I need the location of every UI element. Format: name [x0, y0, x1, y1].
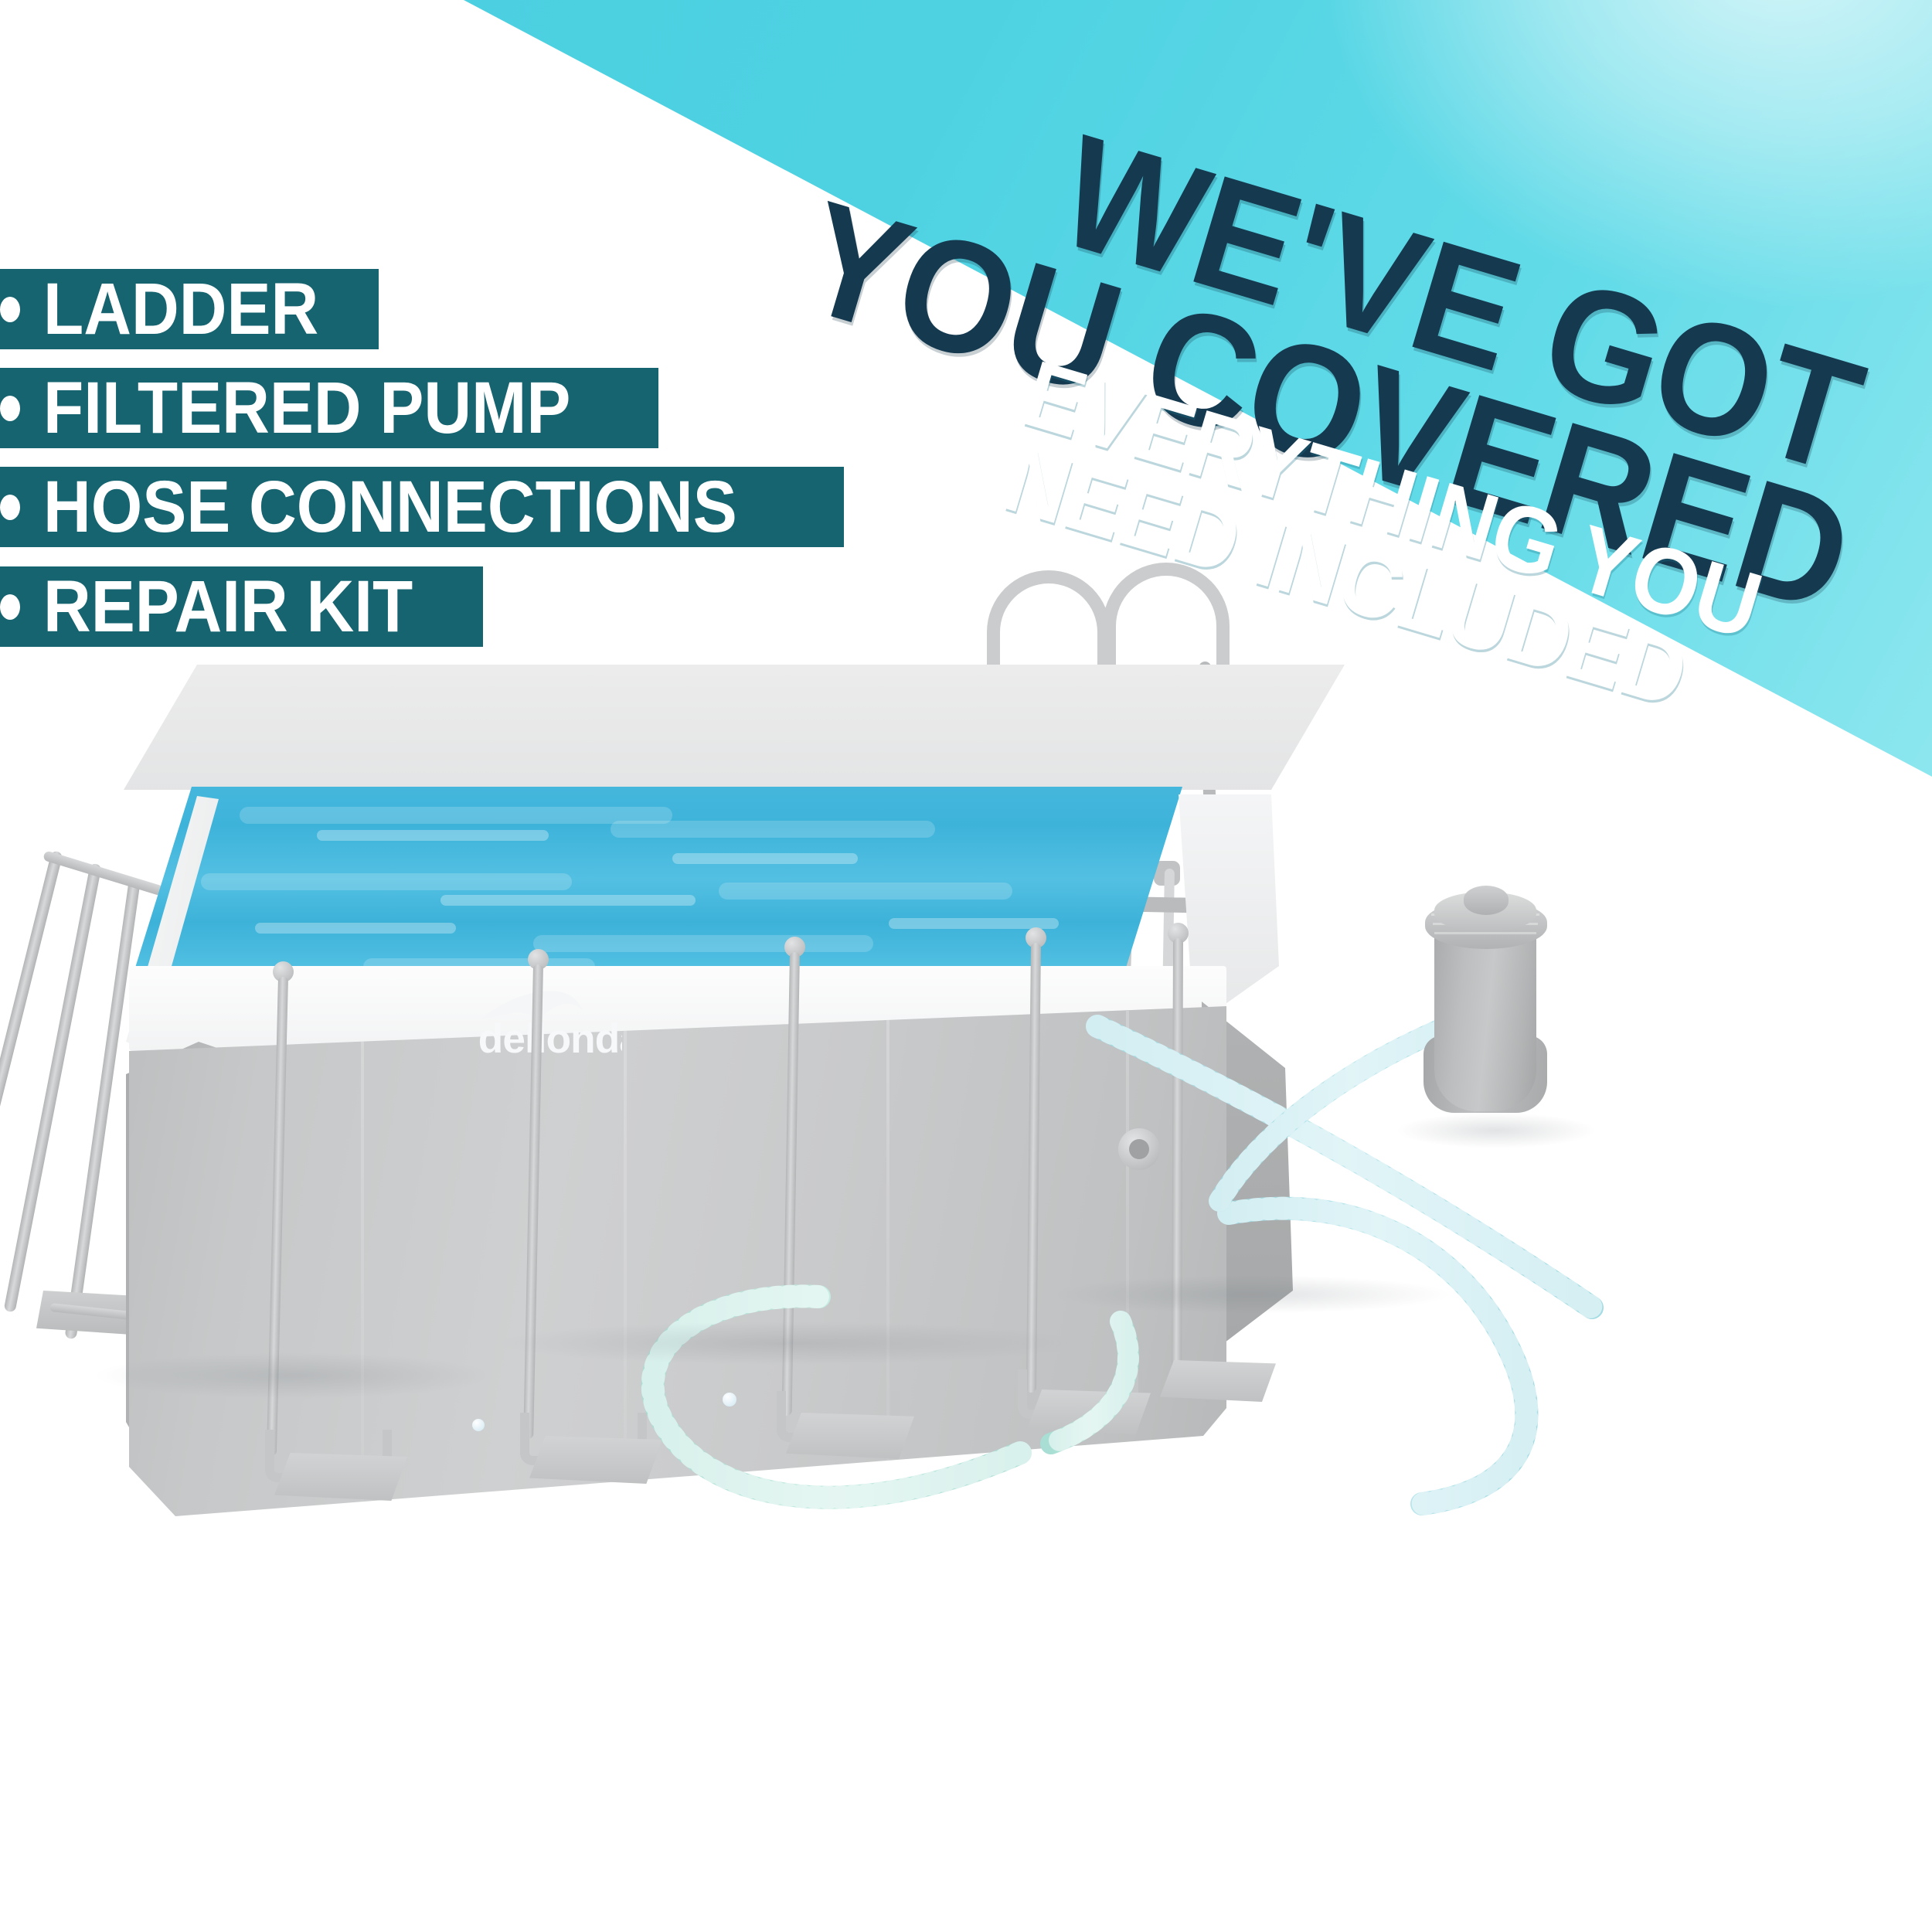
feature-item-ladder: LADDER	[0, 269, 379, 349]
wall-fitting-dot-2	[472, 1419, 485, 1431]
bullet-dot-icon	[0, 297, 20, 322]
pump-body	[1434, 926, 1536, 1111]
pool-water	[131, 787, 1182, 980]
bullet-dot-icon	[0, 495, 20, 520]
product-marketing-image: WE'VE GOT YOU COVERED EVERYTHING YOU NEE…	[0, 0, 1932, 1932]
feature-label: HOSE CONNECTIONS	[43, 465, 737, 549]
pool-shadow-right	[1051, 1275, 1453, 1314]
pool-foot-plate-1	[274, 1453, 407, 1501]
product-image-above-ground-pool: dellonda	[0, 541, 1932, 1932]
pump-knob	[1464, 886, 1509, 915]
bullet-dot-icon	[0, 396, 20, 421]
feature-item-filtered-pump: FILTERED PUMP	[0, 368, 658, 448]
feature-item-hose-connections: HOSE CONNECTIONS	[0, 467, 844, 547]
pool-shadow-left	[93, 1352, 495, 1399]
feature-label: LADDER	[43, 267, 318, 352]
pump-shadow	[1396, 1113, 1597, 1148]
pool-shadow-mid	[495, 1321, 1082, 1365]
pool-leg-top-bar	[43, 850, 164, 896]
hose-return-loop	[1229, 1209, 1526, 1504]
filter-pump	[1422, 881, 1553, 1113]
pool-rim-far	[124, 665, 1345, 796]
feature-label: FILTERED PUMP	[43, 366, 570, 451]
hose-assembly	[587, 958, 1901, 1561]
